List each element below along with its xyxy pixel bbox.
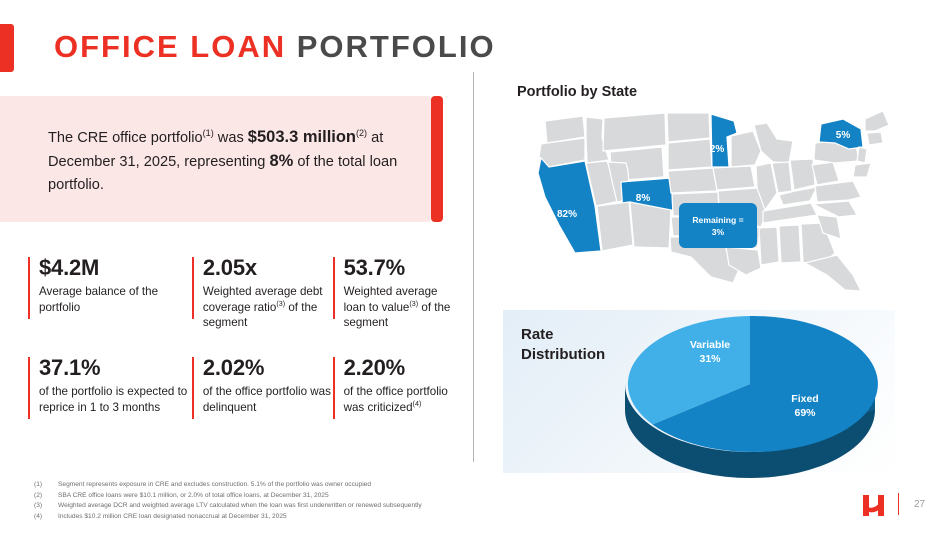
- footnotes-list: (1) Segment represents exposure in CRE a…: [34, 480, 474, 522]
- callout-sup-1: (1): [203, 128, 214, 138]
- stat-value: $4.2M: [39, 255, 192, 281]
- rate-title-line1: Rate: [521, 325, 605, 345]
- callout-text: The CRE office portfolio(1) was $503.3 m…: [48, 126, 418, 197]
- stat-value: 2.05x: [203, 255, 333, 281]
- footnote-item: (3) Weighted average DCR and weighted av…: [34, 501, 474, 512]
- company-logo-icon: [862, 492, 886, 518]
- rate-distribution-title: Rate Distribution: [521, 325, 605, 365]
- stat-label: Average balance of the portfolio: [39, 284, 192, 315]
- footnote-item: (2) SBA CRE office loans were $10.1 mill…: [34, 491, 474, 502]
- colorado-label: 8%: [636, 193, 651, 204]
- page-title-primary: OFFICE LOAN: [54, 29, 286, 64]
- footnote-text: Includes $10.2 million CRE loan designat…: [58, 512, 474, 523]
- stat-accent-rule: [28, 257, 30, 319]
- stat-label-sup: (3): [276, 299, 285, 308]
- page-title: OFFICE LOAN PORTFOLIO: [54, 23, 496, 71]
- stat-label-a: of the office portfolio was criticized: [344, 385, 448, 414]
- stat-loan-to-value: 53.7% Weighted average loan to value(3) …: [333, 255, 458, 355]
- title-accent-bar: [0, 24, 14, 72]
- stat-accent-rule: [192, 357, 194, 419]
- stat-accent-rule: [333, 357, 335, 419]
- stat-value: 2.20%: [344, 355, 458, 381]
- stat-accent-rule: [192, 257, 194, 319]
- panel-divider: [473, 72, 474, 462]
- callout-highlight-amount: $503.3 million: [248, 128, 356, 146]
- remaining-label: Remaining =: [692, 214, 743, 226]
- stat-value: 53.7%: [344, 255, 458, 281]
- page-number: 27: [914, 499, 925, 510]
- stat-value: 37.1%: [39, 355, 192, 381]
- pie-fixed-label: Fixed: [791, 393, 818, 405]
- stat-accent-rule: [333, 257, 335, 319]
- map-title: Portfolio by State: [517, 84, 637, 100]
- footnote-item: (4) Includes $10.2 million CRE loan desi…: [34, 512, 474, 523]
- california-label: 82%: [557, 209, 577, 220]
- stat-label: of the portfolio is expected to reprice …: [39, 384, 192, 415]
- stat-reprice: 37.1% of the portfolio is expected to re…: [28, 355, 192, 415]
- stat-debt-coverage-ratio: 2.05x Weighted average debt coverage rat…: [192, 255, 333, 355]
- stat-label: Weighted average debt coverage ratio(3) …: [203, 284, 333, 331]
- callout-highlight-percent: 8%: [269, 152, 293, 170]
- pie-variable-value: 31%: [699, 353, 721, 365]
- rate-distribution-pie-chart: Fixed 69% Variable 31%: [600, 306, 900, 486]
- stat-criticized: 2.20% of the office portfolio was critic…: [333, 355, 458, 415]
- callout-text-1: The CRE office portfolio: [48, 130, 203, 146]
- stat-label: of the office portfolio was criticized(4…: [344, 384, 458, 415]
- stat-label: of the office portfolio was delinquent: [203, 384, 333, 415]
- footnote-number: (4): [34, 512, 58, 523]
- stat-label-sup: (3): [409, 299, 418, 308]
- footnote-text: Weighted average DCR and weighted averag…: [58, 501, 474, 512]
- remaining-callout: Remaining = 3%: [679, 203, 757, 248]
- stats-row-2: 37.1% of the portfolio is expected to re…: [28, 355, 458, 415]
- stats-grid: $4.2M Average balance of the portfolio 2…: [28, 255, 458, 415]
- footer-divider: [898, 493, 899, 515]
- rate-title-line2: Distribution: [521, 345, 605, 365]
- stat-value: 2.02%: [203, 355, 333, 381]
- minnesota-label: 2%: [710, 144, 725, 155]
- callout-sup-2: (2): [356, 128, 367, 138]
- stat-average-balance: $4.2M Average balance of the portfolio: [28, 255, 192, 355]
- stat-accent-rule: [28, 357, 30, 419]
- stat-label-sup: (4): [413, 399, 422, 408]
- pie-fixed-value: 69%: [794, 407, 816, 419]
- footnote-item: (1) Segment represents exposure in CRE a…: [34, 480, 474, 491]
- stats-row-1: $4.2M Average balance of the portfolio 2…: [28, 255, 458, 355]
- footnote-number: (2): [34, 491, 58, 502]
- page-title-secondary: PORTFOLIO: [297, 29, 496, 64]
- footnote-text: SBA CRE office loans were $10.1 million,…: [58, 491, 474, 502]
- footnote-text: Segment represents exposure in CRE and e…: [58, 480, 474, 491]
- callout-accent-bar: [431, 96, 443, 222]
- remaining-value: 3%: [712, 226, 724, 238]
- stat-delinquent: 2.02% of the office portfolio was delinq…: [192, 355, 333, 415]
- pie-variable-label: Variable: [690, 339, 730, 351]
- footnote-number: (1): [34, 480, 58, 491]
- footnote-number: (3): [34, 501, 58, 512]
- stat-label: Weighted average loan to value(3) of the…: [344, 284, 458, 331]
- slide-root: OFFICE LOAN PORTFOLIO The CRE office por…: [0, 0, 949, 534]
- callout-text-2: was: [214, 130, 248, 146]
- newyork-label: 5%: [836, 130, 851, 141]
- us-map-chart: 82% 8% 2% 5%: [505, 105, 945, 295]
